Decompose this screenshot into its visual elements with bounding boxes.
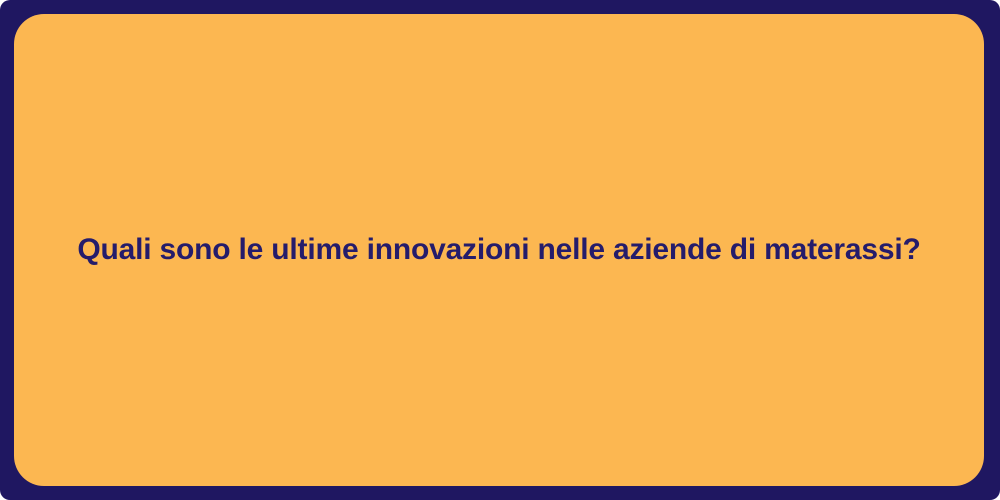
question-card-panel: Quali sono le ultime innovazioni nelle a… [14,14,984,486]
question-card-frame: Quali sono le ultime innovazioni nelle a… [0,0,1000,500]
question-headline: Quali sono le ultime innovazioni nelle a… [77,231,920,269]
